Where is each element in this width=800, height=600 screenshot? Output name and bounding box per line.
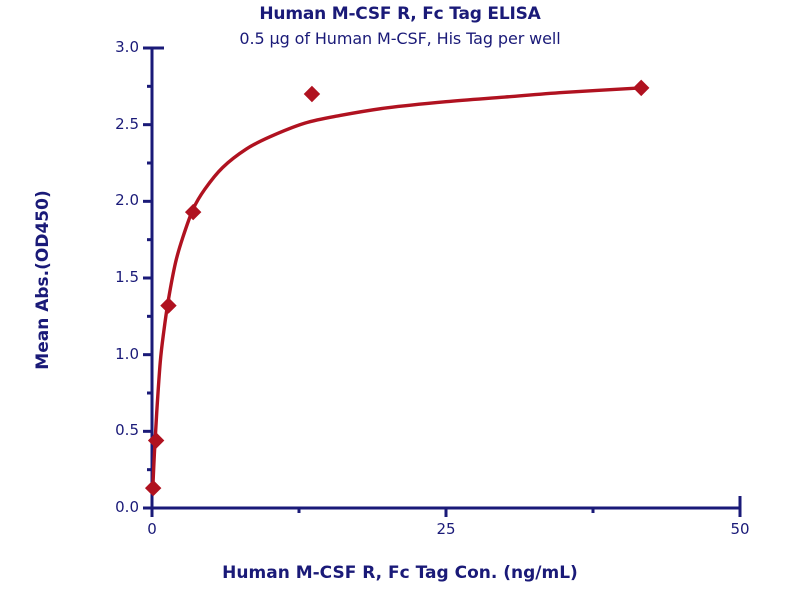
data-point-marker: [186, 205, 201, 220]
data-point-marker: [304, 87, 319, 102]
y-tick-label: 0.5: [91, 421, 139, 439]
fit-curve: [153, 88, 642, 493]
y-tick-label: 1.0: [91, 345, 139, 363]
chart-container: Human M-CSF R, Fc Tag ELISA 0.5 μg of Hu…: [0, 0, 800, 600]
x-tick-label: 0: [128, 520, 176, 538]
y-tick-label: 3.0: [91, 38, 139, 56]
y-tick-label: 2.0: [91, 191, 139, 209]
x-tick-label: 25: [422, 520, 470, 538]
data-point-marker: [161, 298, 176, 313]
data-markers: [146, 80, 649, 495]
y-tick-label: 1.5: [91, 268, 139, 286]
data-point-marker: [146, 481, 161, 496]
axes: [143, 48, 740, 517]
x-tick-label: 50: [716, 520, 764, 538]
data-point-marker: [634, 80, 649, 95]
y-tick-label: 2.5: [91, 115, 139, 133]
y-tick-label: 0.0: [91, 498, 139, 516]
